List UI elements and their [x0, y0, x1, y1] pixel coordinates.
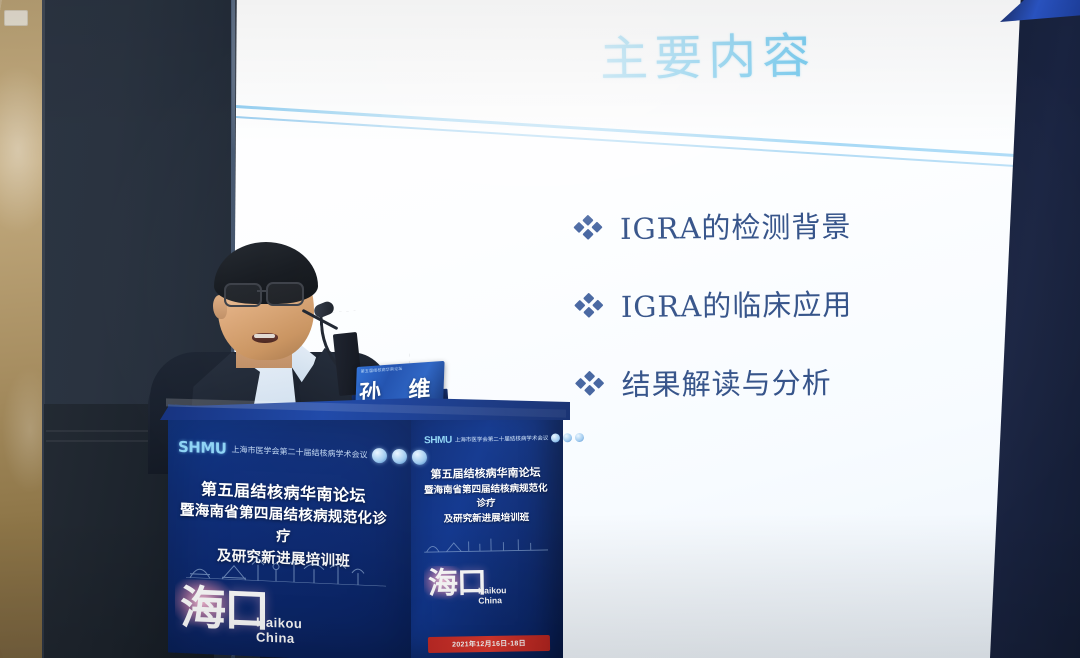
list-item: IGRA的临床应用 [575, 282, 853, 327]
event-date-text: 2021年12月16日-18日 [452, 638, 526, 649]
shmu-logo: SHMU [178, 438, 226, 458]
bullet-label: 结果解读与分析 [621, 360, 831, 404]
side-badge-icon-1 [551, 433, 560, 442]
bullet-label: IGRA的检测背景 [620, 204, 852, 248]
eyeglasses-lens-right [266, 282, 304, 306]
haikou-city-logo: 海口 Haikou China [180, 586, 268, 633]
slide-bullet-list: IGRA的检测背景 IGRA的临床应用 结果解读与分析 [574, 204, 854, 441]
bullet-label: IGRA的临床应用 [621, 282, 853, 326]
speaker-teeth [254, 334, 275, 338]
diamond-cluster-icon [574, 214, 604, 240]
side-haikou-logo-en: Haikou China [478, 586, 507, 606]
side-title-line-1: 第五届结核病华南论坛 [419, 465, 551, 484]
side-shmu-subtitle: 上海市医学会第二十届结核病学术会议 [455, 434, 549, 444]
shmu-logo-subtitle: 上海市医学会第二十届结核病学术会议 [231, 443, 367, 460]
side-title-line-2: 暨海南省第四届结核病规范化诊疗 [420, 481, 553, 513]
slide-title: 主要内容 [599, 16, 816, 89]
side-panel-logo-bar: SHMU 上海市医学会第二十届结核病学术会议 [424, 429, 548, 450]
side-haikou-city-logo: 海口 Haikou China [428, 569, 486, 599]
side-shmu-logo: SHMU [424, 434, 452, 446]
side-haikou-skyline-graphic [424, 533, 548, 553]
event-date-strip: 2021年12月16日-18日 [428, 635, 550, 653]
side-haikou-logo-en-line2: China [478, 595, 502, 605]
side-title-line-3: 及研究新进展培训班 [420, 511, 552, 528]
screenshot-canvas: 主要内容 IGRA的检测背景 IGRA的临床应用 结果解读与分析 [0, 0, 1080, 658]
haikou-logo-en: Haikou China [256, 615, 302, 647]
haikou-logo-cn: 海口 [180, 580, 268, 638]
side-badge-icon-2 [563, 433, 572, 442]
side-badge-icon-3 [575, 432, 584, 441]
eyeglasses-bridge [257, 290, 268, 292]
side-haikou-logo-en-line1: Haikou [478, 585, 507, 595]
eyeglasses-lens-left [224, 283, 262, 307]
haikou-logo-en-line2: China [256, 629, 295, 646]
marble-wall-left [0, 0, 44, 658]
diamond-cluster-icon [575, 370, 605, 396]
diamond-cluster-icon [575, 292, 605, 318]
side-panel-title: 第五届结核病华南论坛 暨海南省第四届结核病规范化诊疗 及研究新进展培训班 [419, 465, 552, 528]
list-item: IGRA的检测背景 [574, 204, 852, 249]
list-item: 结果解读与分析 [575, 360, 853, 405]
wall-outlet [4, 10, 28, 26]
